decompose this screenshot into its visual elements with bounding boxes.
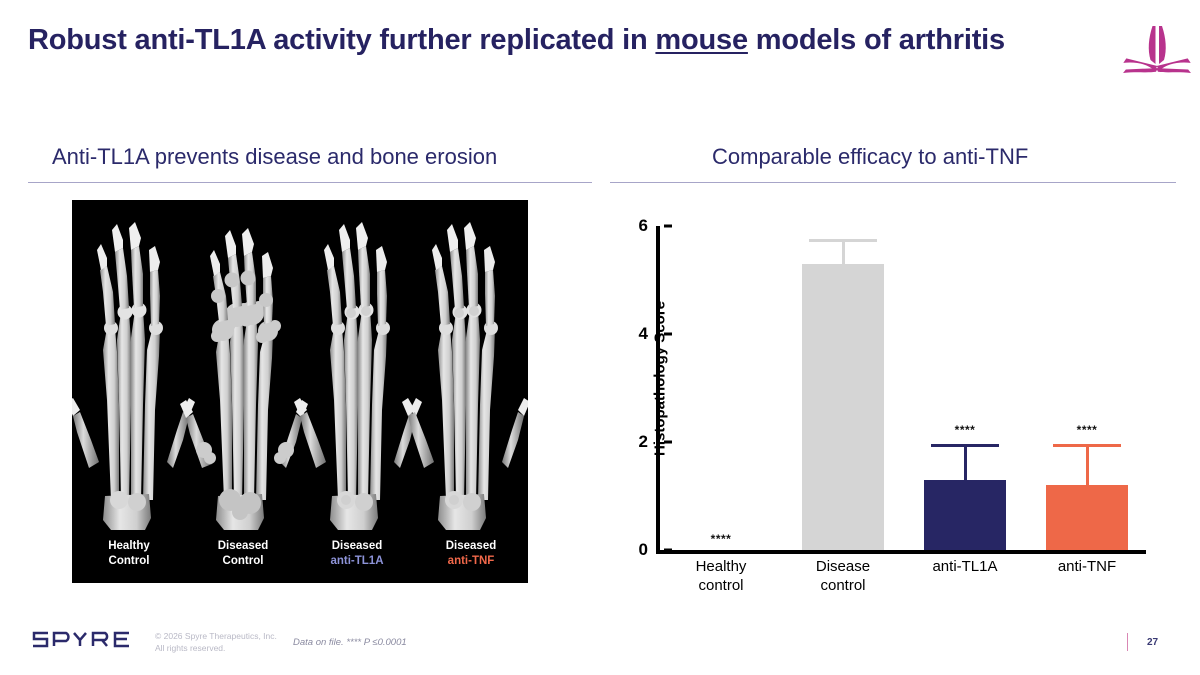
caption-line1: Diseased xyxy=(300,539,414,554)
x-axis-line xyxy=(656,550,1146,554)
page-title-part2: models of arthritis xyxy=(748,24,1005,56)
x-axis-label: anti-TNF xyxy=(1026,558,1148,577)
bar-group[interactable]: Diseasecontrol xyxy=(782,200,904,550)
significance-marker: **** xyxy=(904,423,1026,437)
error-bar-cap xyxy=(931,444,999,447)
x-axis-label-line2: control xyxy=(660,577,782,596)
page-title-underlined-word: mouse xyxy=(655,24,747,56)
error-bar-stem xyxy=(964,447,967,479)
page-title-part1: Robust anti-TL1A activity further replic… xyxy=(28,24,655,56)
microct-caption-diseased-anti-tl1a: Diseased anti-TL1A xyxy=(300,539,414,569)
section-divider-right xyxy=(610,182,1176,183)
caption-line1: Healthy xyxy=(72,539,186,554)
x-axis-label-line2: control xyxy=(782,577,904,596)
x-axis-label-line1: Healthy xyxy=(660,558,782,577)
significance-marker: **** xyxy=(660,532,782,546)
bar-group[interactable]: ****Healthycontrol xyxy=(660,200,782,550)
error-bar-stem xyxy=(1086,447,1089,485)
x-axis-label: Diseasecontrol xyxy=(782,558,904,596)
page-number: 27 xyxy=(1147,637,1158,648)
section-divider-left xyxy=(28,182,592,183)
x-axis-label-line1: anti-TNF xyxy=(1026,558,1148,577)
x-axis-label-line1: anti-TL1A xyxy=(904,558,1026,577)
y-tick-label: 0 xyxy=(622,540,648,560)
page-title: Robust anti-TL1A activity further replic… xyxy=(28,22,1088,60)
copyright-line2: All rights reserved. xyxy=(155,642,277,654)
caption-line2: anti-TL1A xyxy=(300,554,414,569)
x-axis-label: Healthycontrol xyxy=(660,558,782,596)
caption-line2: anti-TNF xyxy=(414,554,528,569)
microct-caption-diseased-anti-tnf: Diseased anti-TNF xyxy=(414,539,528,569)
bar-group[interactable]: ****anti-TL1A xyxy=(904,200,1026,550)
spyre-trefoil-icon xyxy=(1122,24,1192,102)
significance-marker: **** xyxy=(1026,423,1148,437)
y-tick-label: 6 xyxy=(622,216,648,236)
footer-divider xyxy=(0,613,1200,614)
mouse-paw-microct-image xyxy=(72,200,528,530)
copyright-notice: © 2026 Spyre Therapeutics, Inc. All righ… xyxy=(155,630,277,655)
spyre-wordmark-logo xyxy=(30,629,136,651)
caption-line2: Control xyxy=(186,554,300,569)
microct-image-panel: Healthy Control Diseased Control Disease… xyxy=(72,200,528,583)
error-bar-stem xyxy=(842,242,845,264)
page-number-divider xyxy=(1127,633,1128,651)
y-axis-ticks: 0246 xyxy=(616,200,648,560)
y-tick-label: 2 xyxy=(622,432,648,452)
microct-caption-row: Healthy Control Diseased Control Disease… xyxy=(72,539,528,569)
chart-bar[interactable] xyxy=(1046,485,1129,550)
microct-caption-diseased-control: Diseased Control xyxy=(186,539,300,569)
caption-line1: Diseased xyxy=(186,539,300,554)
section-heading-left: Anti-TL1A prevents disease and bone eros… xyxy=(52,144,497,170)
bar-group[interactable]: ****anti-TNF xyxy=(1026,200,1148,550)
microct-caption-healthy-control: Healthy Control xyxy=(72,539,186,569)
x-axis-label-line1: Disease xyxy=(782,558,904,577)
x-axis-label: anti-TL1A xyxy=(904,558,1026,577)
error-bar-cap xyxy=(809,239,877,242)
y-tick-label: 4 xyxy=(622,324,648,344)
source-note: Data on file. **** P ≤0.0001 xyxy=(293,637,407,648)
caption-line2: Control xyxy=(72,554,186,569)
chart-bar[interactable] xyxy=(802,264,885,550)
section-heading-right: Comparable efficacy to anti-TNF xyxy=(712,144,1028,170)
chart-bar[interactable] xyxy=(924,480,1007,550)
histopathology-score-bar-chart: Histopathology Score 0246 ****Healthycon… xyxy=(600,200,1180,620)
caption-line1: Diseased xyxy=(414,539,528,554)
error-bar-cap xyxy=(1053,444,1121,447)
copyright-line1: © 2026 Spyre Therapeutics, Inc. xyxy=(155,630,277,642)
chart-plot-area: ****HealthycontrolDiseasecontrol****anti… xyxy=(660,200,1148,550)
